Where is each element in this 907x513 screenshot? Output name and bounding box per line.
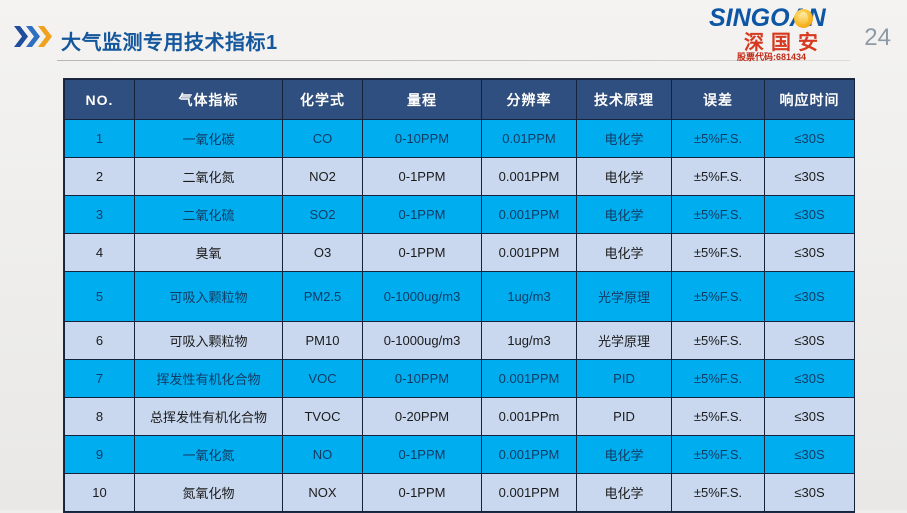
cell-resolution: 0.001PPM bbox=[482, 436, 577, 474]
cell-range: 0-1PPM bbox=[363, 234, 482, 272]
cell-error: ±5%F.S. bbox=[672, 436, 765, 474]
chevron-right-icon-3 bbox=[38, 26, 53, 47]
slide-header: 大气监测专用技术指标1 SINGOAN 深国安 股票代码:681434 24 bbox=[0, 0, 907, 68]
cell-formula: PM10 bbox=[283, 322, 363, 360]
cell-principle: 电化学 bbox=[577, 234, 672, 272]
cell-gas: 可吸入颗粒物 bbox=[135, 272, 283, 322]
cell-no: 1 bbox=[65, 120, 135, 158]
cell-formula: VOC bbox=[283, 360, 363, 398]
cell-error: ±5%F.S. bbox=[672, 398, 765, 436]
cell-no: 6 bbox=[65, 322, 135, 360]
cell-resolution: 0.001PPm bbox=[482, 398, 577, 436]
cell-gas: 挥发性有机化合物 bbox=[135, 360, 283, 398]
cell-principle: 电化学 bbox=[577, 436, 672, 474]
table-body: 1 一氧化碳 CO 0-10PPM 0.01PPM 电化学 ±5%F.S. ≤3… bbox=[65, 120, 855, 512]
cell-principle: 光学原理 bbox=[577, 322, 672, 360]
cell-response: ≤30S bbox=[765, 322, 855, 360]
cell-gas: 氮氧化物 bbox=[135, 474, 283, 512]
table-row: 7 挥发性有机化合物 VOC 0-10PPM 0.001PPM PID ±5%F… bbox=[65, 360, 855, 398]
cell-no: 4 bbox=[65, 234, 135, 272]
spec-table-container: NO. 气体指标 化学式 量程 分辨率 技术原理 误差 响应时间 1 一氧化碳 … bbox=[63, 78, 855, 513]
cell-formula: O3 bbox=[283, 234, 363, 272]
cell-resolution: 1ug/m3 bbox=[482, 272, 577, 322]
col-header-range: 量程 bbox=[363, 80, 482, 120]
cell-no: 10 bbox=[65, 474, 135, 512]
cell-principle: 电化学 bbox=[577, 120, 672, 158]
table-row: 4 臭氧 O3 0-1PPM 0.001PPM 电化学 ±5%F.S. ≤30S bbox=[65, 234, 855, 272]
cell-gas: 总挥发性有机化合物 bbox=[135, 398, 283, 436]
logo-stock-code: 股票代码:681434 bbox=[737, 50, 806, 63]
page-title: 大气监测专用技术指标1 bbox=[61, 26, 278, 55]
cell-error: ±5%F.S. bbox=[672, 196, 765, 234]
table-row: 9 一氧化氮 NO 0-1PPM 0.001PPM 电化学 ±5%F.S. ≤3… bbox=[65, 436, 855, 474]
cell-resolution: 0.001PPM bbox=[482, 196, 577, 234]
cell-range: 0-10PPM bbox=[363, 120, 482, 158]
cell-resolution: 0.01PPM bbox=[482, 120, 577, 158]
cell-formula: CO bbox=[283, 120, 363, 158]
cell-error: ±5%F.S. bbox=[672, 158, 765, 196]
cell-principle: PID bbox=[577, 360, 672, 398]
chevron-group bbox=[14, 26, 50, 47]
cell-response: ≤30S bbox=[765, 196, 855, 234]
cell-formula: PM2.5 bbox=[283, 272, 363, 322]
cell-principle: 光学原理 bbox=[577, 272, 672, 322]
company-logo: SINGOAN 深国安 股票代码:681434 bbox=[709, 4, 889, 66]
cell-response: ≤30S bbox=[765, 158, 855, 196]
cell-response: ≤30S bbox=[765, 120, 855, 158]
cell-range: 0-1PPM bbox=[363, 196, 482, 234]
cell-response: ≤30S bbox=[765, 360, 855, 398]
cell-response: ≤30S bbox=[765, 398, 855, 436]
cell-principle: 电化学 bbox=[577, 196, 672, 234]
cell-range: 0-1PPM bbox=[363, 158, 482, 196]
cell-formula: TVOC bbox=[283, 398, 363, 436]
col-header-response: 响应时间 bbox=[765, 80, 855, 120]
cell-principle: PID bbox=[577, 398, 672, 436]
cell-formula: NOX bbox=[283, 474, 363, 512]
cell-no: 2 bbox=[65, 158, 135, 196]
cell-range: 0-1000ug/m3 bbox=[363, 272, 482, 322]
cell-gas: 一氧化氮 bbox=[135, 436, 283, 474]
col-header-error: 误差 bbox=[672, 80, 765, 120]
cell-error: ±5%F.S. bbox=[672, 234, 765, 272]
table-row: 8 总挥发性有机化合物 TVOC 0-20PPM 0.001PPm PID ±5… bbox=[65, 398, 855, 436]
cell-no: 9 bbox=[65, 436, 135, 474]
col-header-no: NO. bbox=[65, 80, 135, 120]
spec-table: NO. 气体指标 化学式 量程 分辨率 技术原理 误差 响应时间 1 一氧化碳 … bbox=[64, 79, 855, 512]
table-row: 10 氮氧化物 NOX 0-1PPM 0.001PPM 电化学 ±5%F.S. … bbox=[65, 474, 855, 512]
cell-error: ±5%F.S. bbox=[672, 272, 765, 322]
cell-resolution: 0.001PPM bbox=[482, 158, 577, 196]
cell-response: ≤30S bbox=[765, 474, 855, 512]
page-number: 24 bbox=[864, 24, 891, 52]
cell-range: 0-1PPM bbox=[363, 436, 482, 474]
table-row: 5 可吸入颗粒物 PM2.5 0-1000ug/m3 1ug/m3 光学原理 ±… bbox=[65, 272, 855, 322]
cell-resolution: 1ug/m3 bbox=[482, 322, 577, 360]
col-header-resolution: 分辨率 bbox=[482, 80, 577, 120]
cell-no: 7 bbox=[65, 360, 135, 398]
cell-response: ≤30S bbox=[765, 272, 855, 322]
cell-response: ≤30S bbox=[765, 234, 855, 272]
cell-range: 0-1000ug/m3 bbox=[363, 322, 482, 360]
cell-no: 5 bbox=[65, 272, 135, 322]
cell-resolution: 0.001PPM bbox=[482, 474, 577, 512]
table-header-row: NO. 气体指标 化学式 量程 分辨率 技术原理 误差 响应时间 bbox=[65, 80, 855, 120]
cell-gas: 二氧化氮 bbox=[135, 158, 283, 196]
cell-principle: 电化学 bbox=[577, 474, 672, 512]
cell-error: ±5%F.S. bbox=[672, 474, 765, 512]
cell-error: ±5%F.S. bbox=[672, 120, 765, 158]
table-row: 2 二氧化氮 NO2 0-1PPM 0.001PPM 电化学 ±5%F.S. ≤… bbox=[65, 158, 855, 196]
cell-principle: 电化学 bbox=[577, 158, 672, 196]
cell-resolution: 0.001PPM bbox=[482, 234, 577, 272]
table-row: 3 二氧化硫 SO2 0-1PPM 0.001PPM 电化学 ±5%F.S. ≤… bbox=[65, 196, 855, 234]
cell-resolution: 0.001PPM bbox=[482, 360, 577, 398]
cell-formula: SO2 bbox=[283, 196, 363, 234]
cell-gas: 臭氧 bbox=[135, 234, 283, 272]
cell-error: ±5%F.S. bbox=[672, 322, 765, 360]
cell-gas: 二氧化硫 bbox=[135, 196, 283, 234]
cell-range: 0-10PPM bbox=[363, 360, 482, 398]
cell-no: 3 bbox=[65, 196, 135, 234]
cell-no: 8 bbox=[65, 398, 135, 436]
table-row: 6 可吸入颗粒物 PM10 0-1000ug/m3 1ug/m3 光学原理 ±5… bbox=[65, 322, 855, 360]
cell-range: 0-1PPM bbox=[363, 474, 482, 512]
cell-error: ±5%F.S. bbox=[672, 360, 765, 398]
col-header-principle: 技术原理 bbox=[577, 80, 672, 120]
cell-formula: NO bbox=[283, 436, 363, 474]
cell-response: ≤30S bbox=[765, 436, 855, 474]
cell-range: 0-20PPM bbox=[363, 398, 482, 436]
col-header-gas: 气体指标 bbox=[135, 80, 283, 120]
cell-gas: 一氧化碳 bbox=[135, 120, 283, 158]
cell-formula: NO2 bbox=[283, 158, 363, 196]
cell-gas: 可吸入颗粒物 bbox=[135, 322, 283, 360]
col-header-formula: 化学式 bbox=[283, 80, 363, 120]
table-row: 1 一氧化碳 CO 0-10PPM 0.01PPM 电化学 ±5%F.S. ≤3… bbox=[65, 120, 855, 158]
